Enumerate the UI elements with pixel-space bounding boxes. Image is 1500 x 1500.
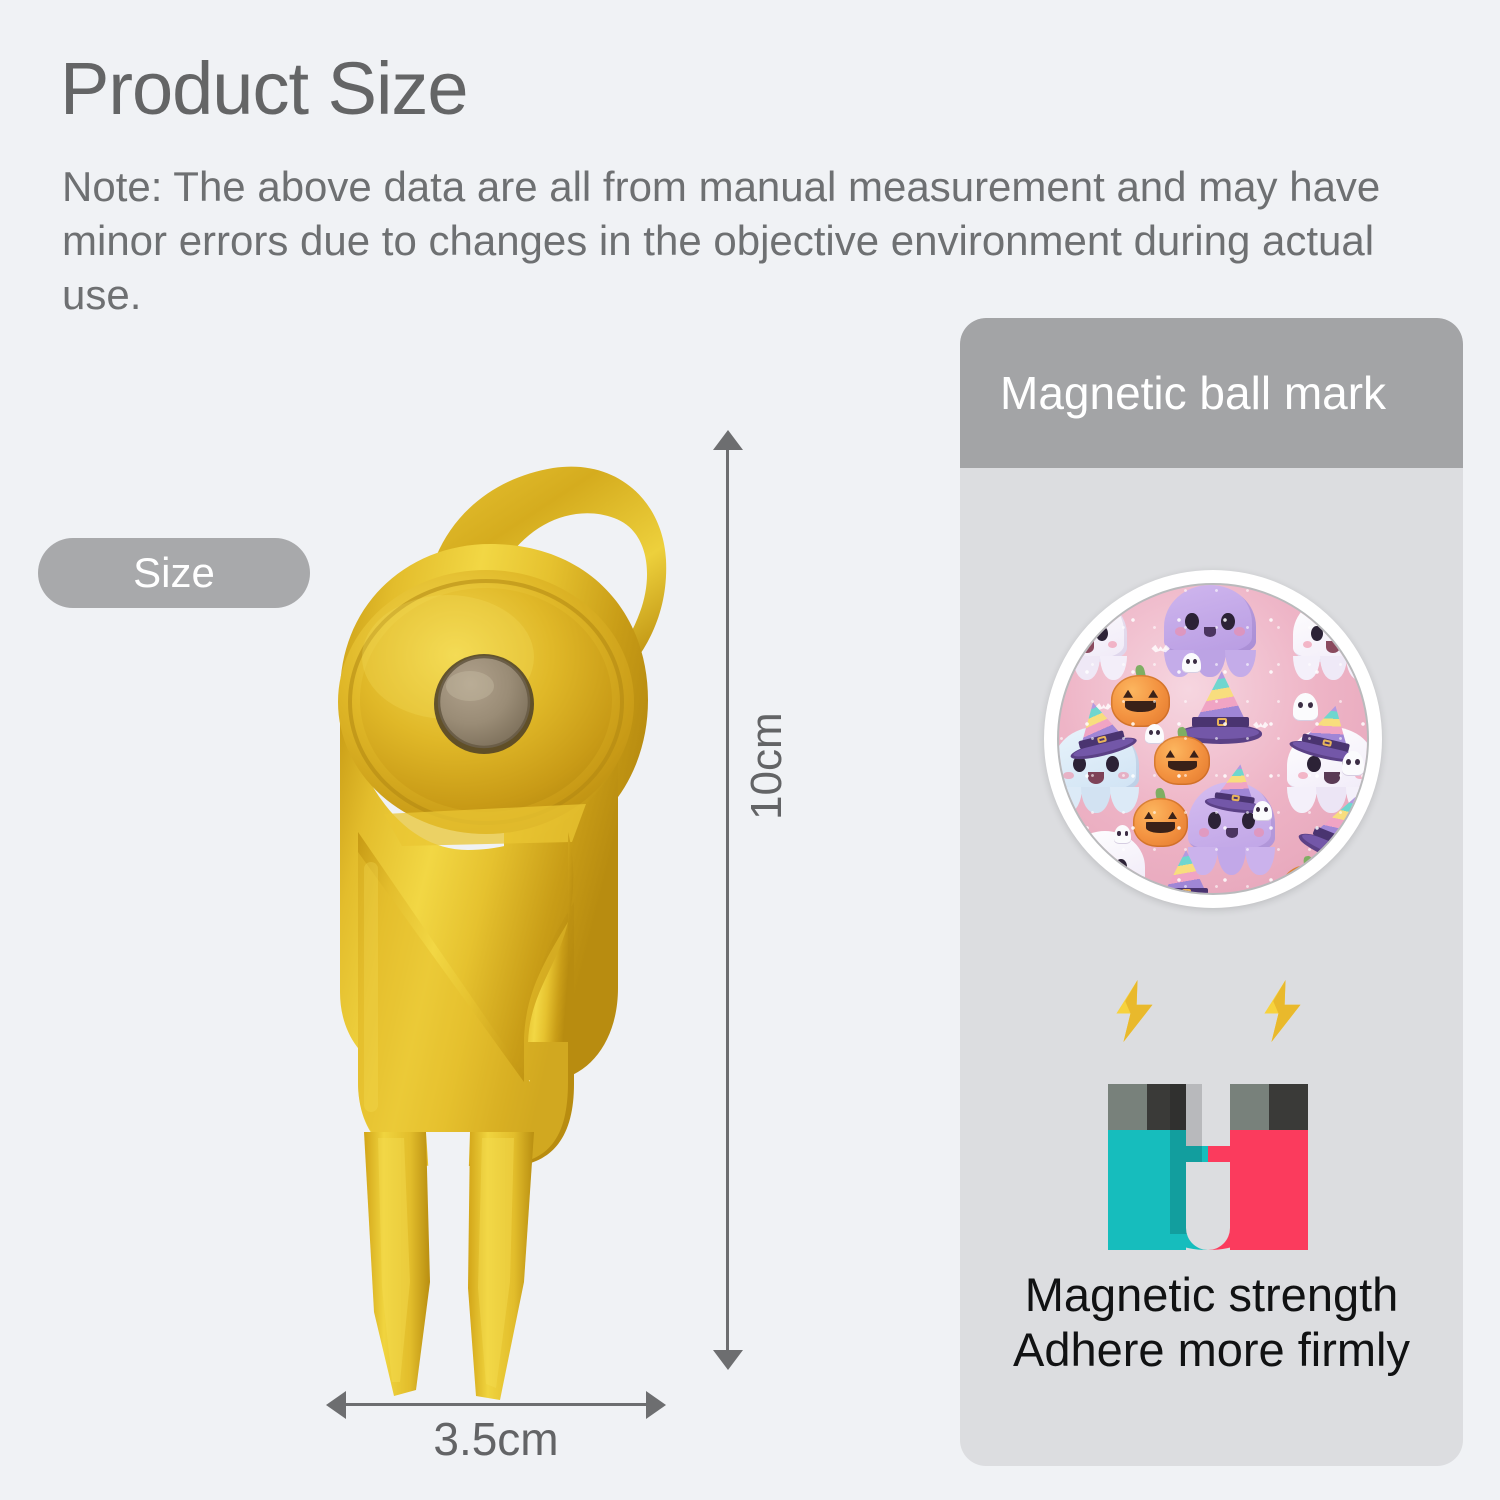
tiny-ghost-icon bbox=[1145, 724, 1163, 744]
ghost-icon bbox=[1164, 585, 1256, 677]
divot-tool-illustration bbox=[318, 432, 688, 1407]
arrow-down-icon bbox=[713, 1350, 743, 1370]
magnet-panel-header: Magnetic ball mark bbox=[960, 318, 1463, 468]
magnet-gap bbox=[1186, 1162, 1230, 1250]
magnet-panel-title: Magnetic ball mark bbox=[1000, 366, 1386, 420]
magnet-caption-line2: Adhere more firmly bbox=[960, 1323, 1463, 1378]
height-dimension-label: 10cm bbox=[742, 712, 792, 820]
page-title: Product Size bbox=[60, 52, 468, 126]
tiny-ghost-icon bbox=[1114, 825, 1131, 843]
magnetic-ball-mark-panel: Magnetic ball mark bbox=[960, 318, 1463, 1466]
height-dimension-arrow bbox=[700, 430, 760, 1370]
dimension-line-horizontal bbox=[336, 1403, 656, 1406]
measurement-note: Note: The above data are all from manual… bbox=[62, 160, 1462, 321]
size-badge: Size bbox=[38, 538, 310, 608]
witch-hat-icon bbox=[1151, 850, 1219, 895]
magnet-body bbox=[1108, 1050, 1308, 1250]
product-image-golf-divot-tool bbox=[318, 432, 688, 1407]
tiny-ghost-icon bbox=[1253, 801, 1271, 821]
ghost-icon bbox=[1065, 831, 1145, 895]
size-badge-label: Size bbox=[133, 549, 215, 597]
horseshoe-magnet-icon bbox=[1108, 980, 1308, 1250]
magnet-caption: Magnetic strength Adhere more firmly bbox=[960, 1268, 1463, 1377]
width-dimension-label: 3.5cm bbox=[326, 1412, 666, 1466]
magnet-arm-right bbox=[1230, 1084, 1308, 1250]
tiny-ghost-icon bbox=[1342, 751, 1364, 776]
magnet-caption-line1: Magnetic strength bbox=[960, 1268, 1463, 1323]
pumpkin-icon bbox=[1281, 856, 1336, 895]
dimension-line-vertical bbox=[726, 440, 729, 1360]
ball-marker-artwork bbox=[1057, 583, 1369, 895]
ball-marker-disc bbox=[1044, 570, 1382, 908]
tiny-ghost-icon bbox=[1182, 653, 1200, 673]
